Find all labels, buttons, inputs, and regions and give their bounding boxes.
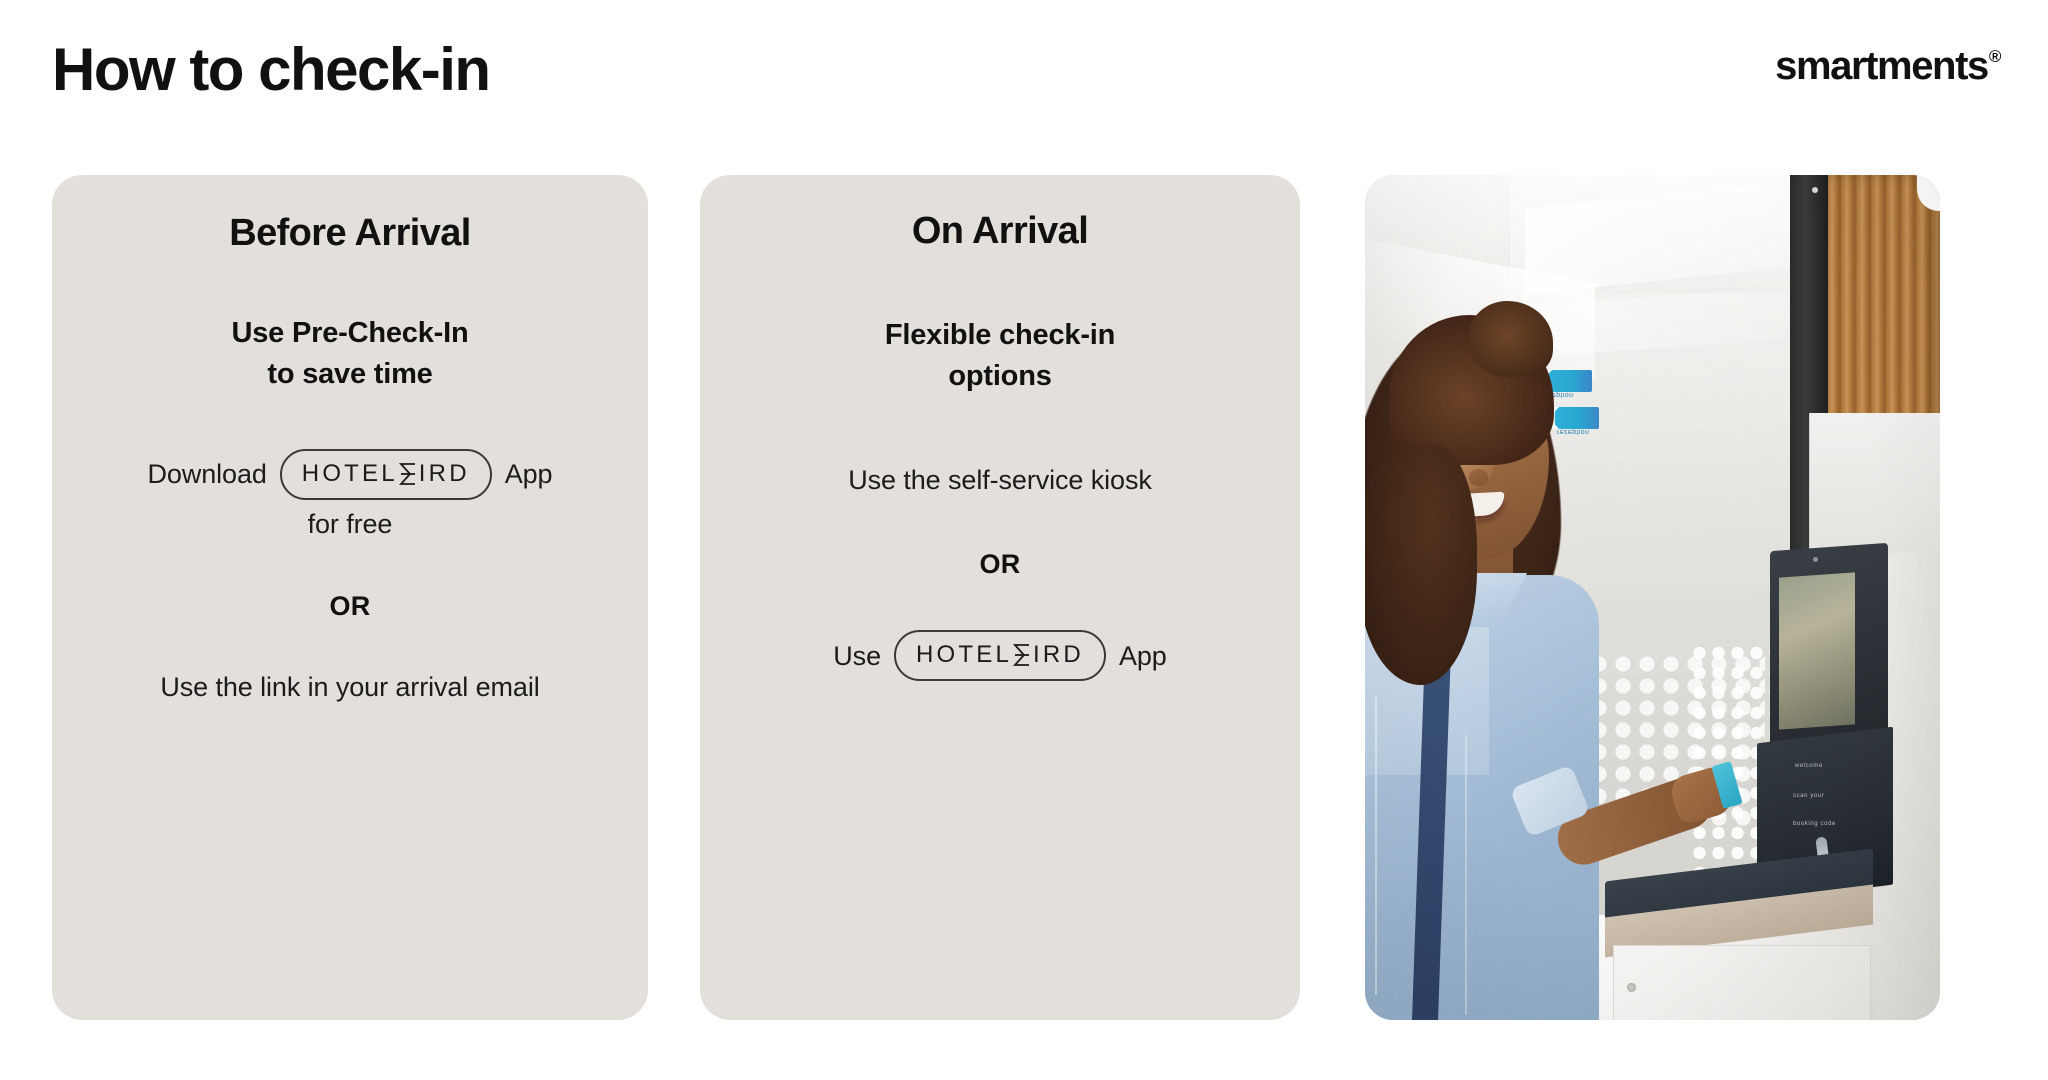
- reception-sticker-1: [1548, 370, 1592, 392]
- kiosk-drawer: [1613, 945, 1871, 1020]
- hotelbird-logo-part-2: IRD: [1033, 641, 1084, 669]
- registered-trademark-icon: ®: [1989, 48, 2000, 65]
- or-divider-card-2: OR: [979, 549, 1020, 580]
- hotelbird-logo-pill[interactable]: HOTELIRD: [280, 449, 492, 500]
- hotelbird-logo-part-1: HOTEL: [302, 460, 398, 488]
- download-row: Download HOTELIRD App: [148, 449, 553, 500]
- denim-seam-1: [1375, 695, 1377, 995]
- hotelbird-logo-part-2: IRD: [419, 460, 470, 488]
- subheading-line-1: Use Pre-Check-In: [232, 313, 469, 354]
- download-second-line: for free: [308, 505, 393, 543]
- hotelbird-logo-text: HOTELIRD: [302, 460, 470, 488]
- hotelbird-logo-part-1: HOTEL: [916, 641, 1012, 669]
- subheading-line-2: to save time: [232, 354, 469, 395]
- kiosk-screen: [1779, 572, 1855, 729]
- photo-card-kiosk: rezeption rezeption welcome scan your bo…: [1365, 175, 1940, 1020]
- denim-seam-2: [1465, 735, 1467, 1015]
- guest-nose: [1469, 469, 1488, 486]
- kiosk-option-label: Use the self-service kiosk: [848, 461, 1152, 499]
- hotelbird-bird-icon: [398, 462, 417, 486]
- reception-sticker-2: [1555, 407, 1599, 429]
- hotelbird-logo-pill-2[interactable]: HOTELIRD: [894, 630, 1106, 681]
- download-prefix-label: Download: [148, 455, 267, 493]
- ceiling-sensor-icon: [1812, 187, 1818, 193]
- card-before-arrival: Before Arrival Use Pre-Check-In to save …: [52, 175, 648, 1020]
- or-divider-card-1: OR: [329, 591, 370, 622]
- app-prefix-label: Use: [833, 637, 881, 675]
- reception-sticker-caption-2: rezeption: [1557, 428, 1589, 435]
- card-subheading-on-arrival: Flexible check-in options: [885, 315, 1115, 397]
- cards-row: Before Arrival Use Pre-Check-In to save …: [0, 175, 2048, 1020]
- card-subheading-before-arrival: Use Pre-Check-In to save time: [232, 313, 469, 395]
- hotelbird-bird-icon: [1012, 643, 1031, 667]
- subheading-line-2: options: [885, 356, 1115, 397]
- kiosk-drawer-lock-icon: [1627, 983, 1636, 992]
- use-app-row: Use HOTELIRD App: [833, 630, 1166, 681]
- photo-illustration: rezeption rezeption welcome scan your bo…: [1365, 175, 1940, 1020]
- subheading-line-1: Flexible check-in: [885, 315, 1115, 356]
- page-title: How to check-in: [52, 38, 490, 101]
- kiosk-panel-line-1: welcome: [1795, 763, 1823, 769]
- download-instruction: Download HOTELIRD App for free: [148, 449, 553, 543]
- kiosk-camera-icon: [1813, 557, 1818, 562]
- download-suffix-label: App: [505, 455, 553, 493]
- kiosk-top-housing: [1809, 413, 1940, 553]
- kiosk-panel-line-3: booking code: [1793, 821, 1836, 827]
- card-heading-before-arrival: Before Arrival: [229, 211, 471, 257]
- card-on-arrival: On Arrival Flexible check-in options Use…: [700, 175, 1300, 1020]
- alt-option-block-card-1: Use the link in your arrival email: [160, 668, 539, 706]
- slide-root: How to check-in smartments® Before Arriv…: [0, 0, 2048, 1080]
- guest-hair-side: [1365, 445, 1477, 685]
- app-suffix-label: App: [1119, 637, 1167, 675]
- brand-logo: smartments®: [1775, 46, 2000, 86]
- brand-logo-text: smartments: [1775, 46, 1988, 86]
- hotelbird-logo-text-2: HOTELIRD: [916, 641, 1084, 669]
- card-heading-on-arrival: On Arrival: [912, 209, 1088, 255]
- kiosk-panel-line-2: scan your: [1793, 793, 1824, 799]
- alt-option-label-card-1: Use the link in your arrival email: [160, 668, 539, 706]
